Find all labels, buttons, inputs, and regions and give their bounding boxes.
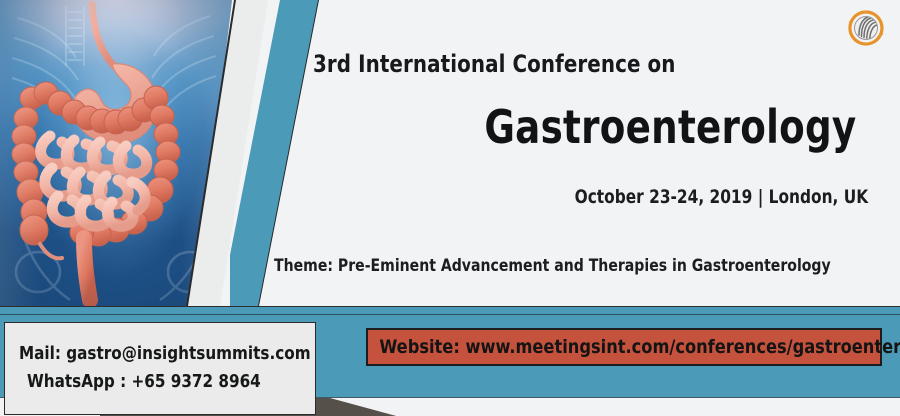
conference-date-location: October 23-24, 2019 | London, UK — [574, 186, 868, 208]
contact-email[interactable]: Mail: gastro@insightsummits.com — [19, 343, 311, 364]
conference-banner: 3rd International Conference on Gastroen… — [0, 0, 900, 416]
website-button-label: Website: www.meetingsint.com/conferences… — [368, 336, 900, 358]
contact-whatsapp[interactable]: WhatsApp : +65 9372 8964 — [27, 371, 261, 392]
globe-logo — [846, 8, 886, 48]
footer-bar-line — [0, 314, 900, 315]
banner-bottom-section: Mail: gastro@insightsummits.com WhatsApp… — [0, 306, 900, 416]
conference-subtitle: 3rd International Conference on — [313, 50, 676, 78]
contact-info-box: Mail: gastro@insightsummits.com WhatsApp… — [4, 322, 316, 415]
conference-theme: Theme: Pre-Eminent Advancement and Thera… — [274, 256, 831, 276]
banner-top-section: 3rd International Conference on Gastroen… — [0, 0, 900, 306]
website-button[interactable]: Website: www.meetingsint.com/conferences… — [366, 328, 882, 366]
conference-text-block: 3rd International Conference on Gastroen… — [300, 0, 900, 306]
globe-icon — [846, 8, 886, 48]
page-title: Gastroenterology — [484, 104, 856, 150]
